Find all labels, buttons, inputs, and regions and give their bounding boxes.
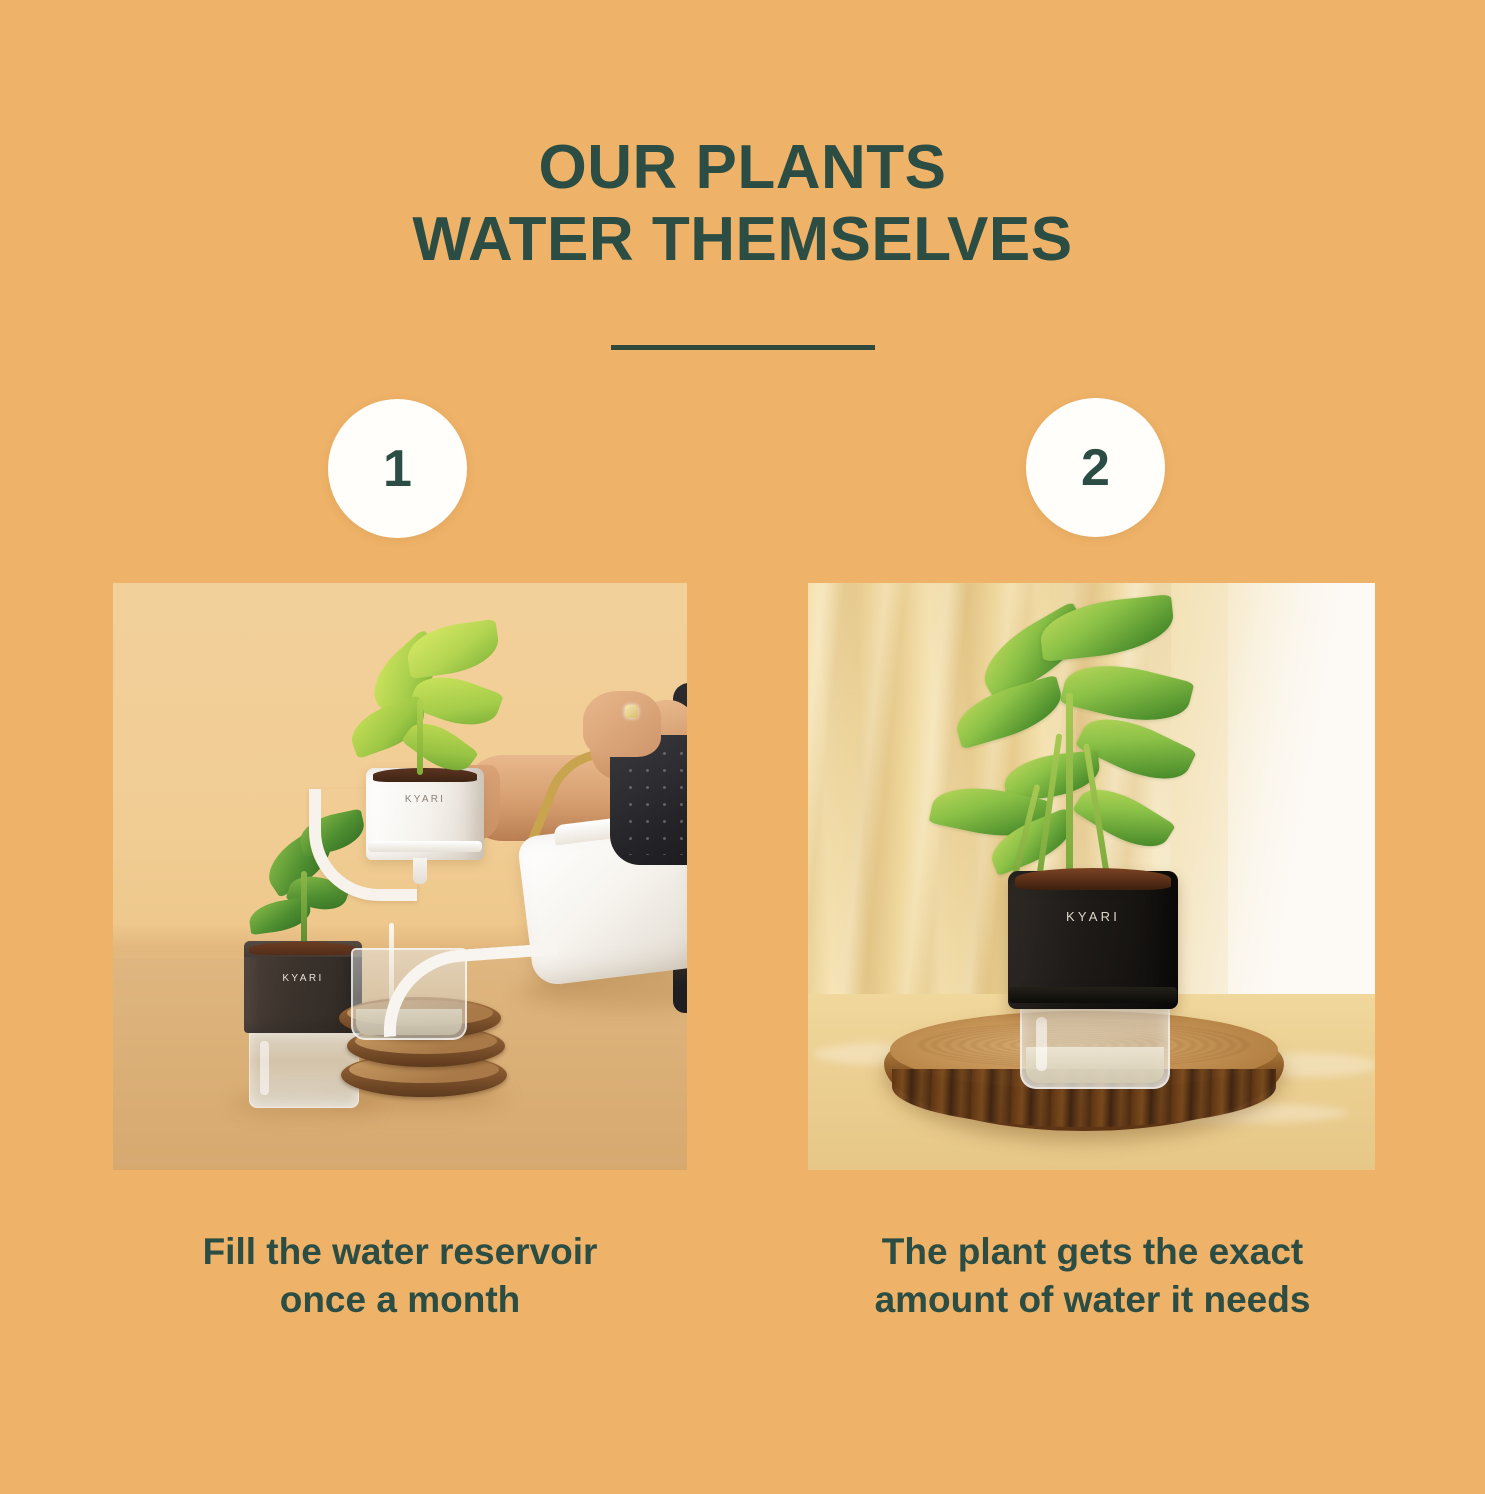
page-title: OUR PLANTS WATER THEMSELVES [0,132,1485,276]
step-1-caption-line-2: once a month [100,1276,700,1324]
title-line-2: WATER THEMSELVES [0,204,1485,276]
pot-lip [1009,987,1177,1003]
pot-funnel-stem [413,858,427,884]
step-badge-2-number: 2 [1081,442,1110,494]
title-line-1: OUR PLANTS [0,132,1485,204]
step-2-caption-line-1: The plant gets the exact [795,1228,1390,1276]
step-1-caption-line-1: Fill the water reservoir [100,1228,700,1276]
reservoir-highlight [1036,1017,1047,1071]
pot-soil [249,942,357,955]
step-badge-1: 1 [328,399,467,538]
water-reservoir [1020,1003,1170,1089]
money-plant-stem [417,699,423,775]
step-1-photo-scene: KYARI [113,583,687,1170]
dark-pot-brand-label: KYARI [244,973,362,984]
person-hand-holding-can [583,691,661,757]
step-1-caption: Fill the water reservoir once a month [100,1228,700,1324]
step-1-photo: KYARI [113,583,687,1170]
small-plant-stem [301,871,307,945]
white-wall [1228,583,1375,1017]
black-plant-pot: KYARI [1008,871,1178,1009]
white-pot-brand-label: KYARI [366,794,484,805]
finger-ring [625,705,638,718]
step-2-caption: The plant gets the exact amount of water… [795,1228,1390,1324]
pot-soil [1015,868,1171,890]
step-2-caption-line-2: amount of water it needs [795,1276,1390,1324]
sleeve-pattern [622,745,687,855]
step-2-photo: KYARI [808,583,1375,1170]
step-badge-2: 2 [1026,398,1165,537]
step-2-photo-scene: KYARI [808,583,1375,1170]
money-plant-stem [1066,693,1073,883]
pot-ring [368,841,482,852]
step-badge-1-number: 1 [383,443,412,495]
title-divider [611,345,875,350]
black-pot-brand-label: KYARI [1008,909,1178,924]
white-plant-pot: KYARI [366,768,484,860]
infographic-page: OUR PLANTS WATER THEMSELVES 1 2 [0,0,1485,1494]
